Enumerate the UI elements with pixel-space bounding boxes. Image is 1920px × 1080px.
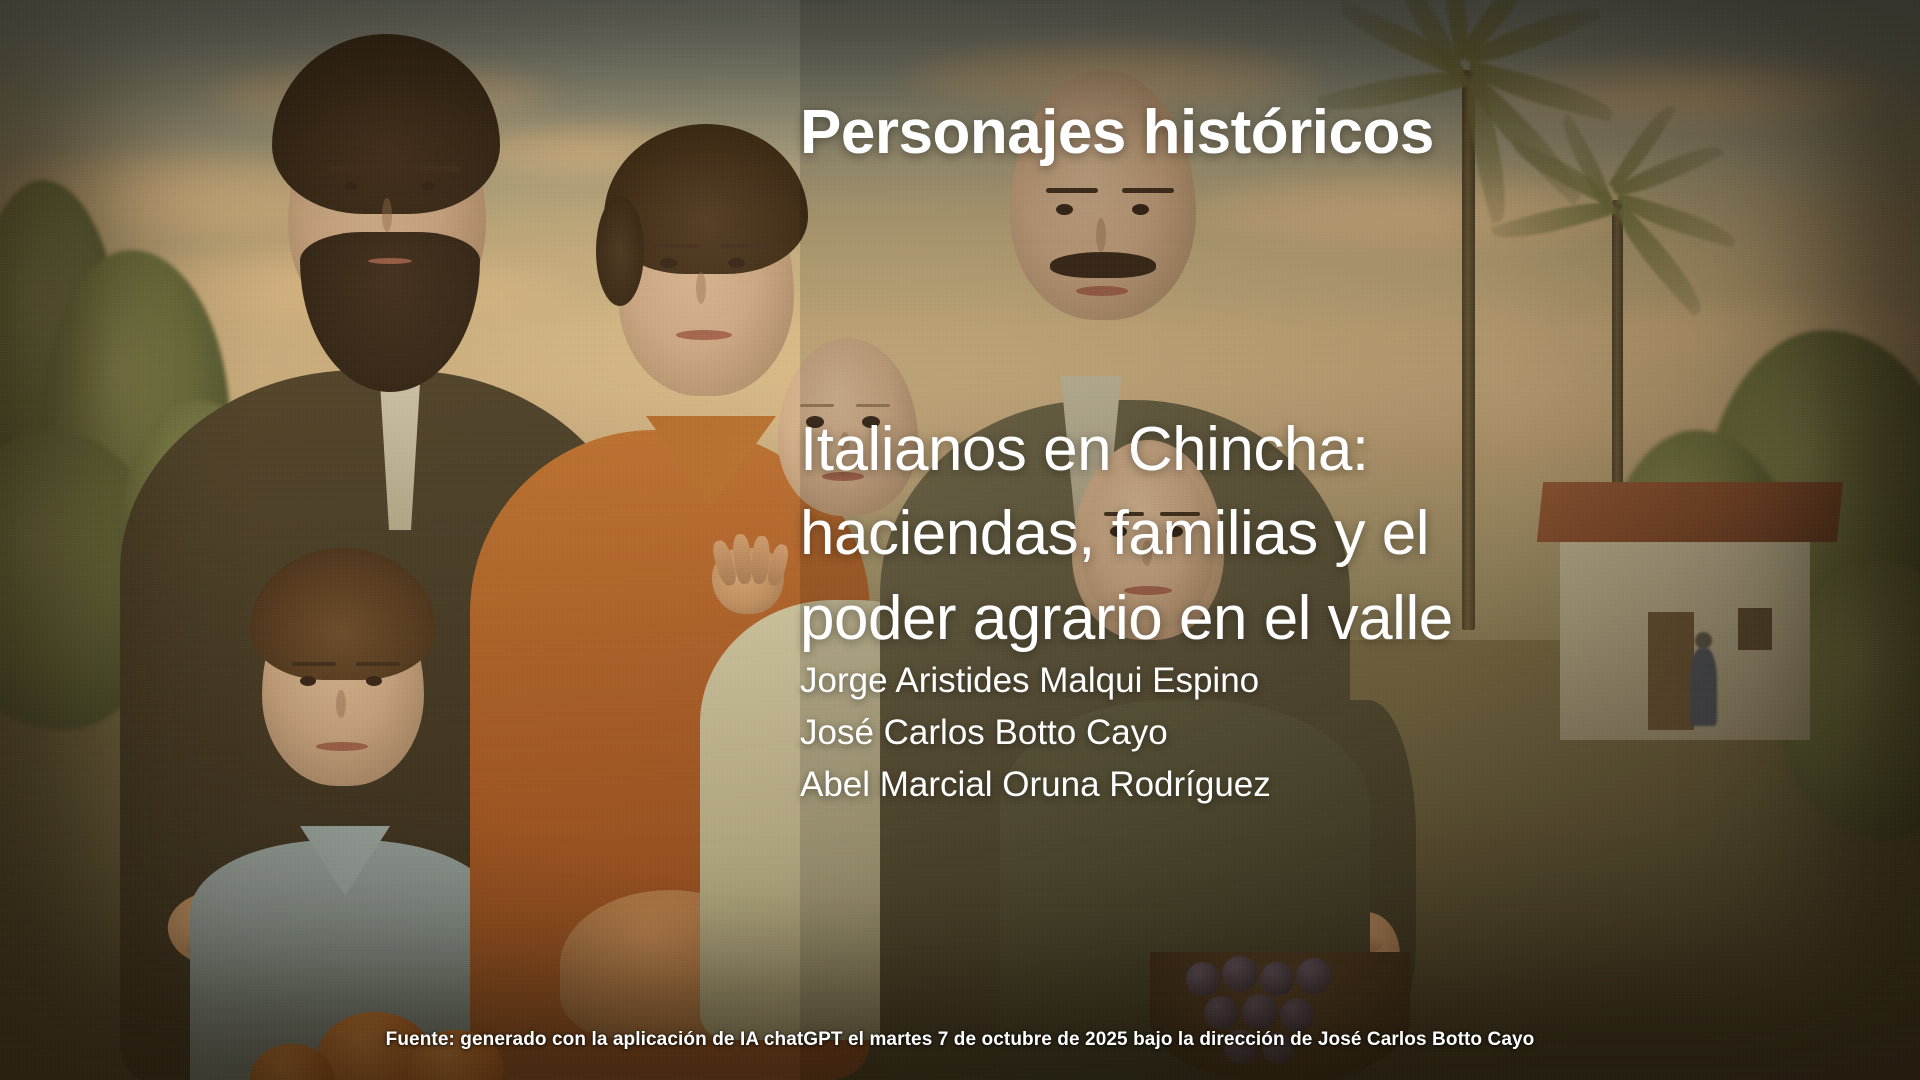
title-line-1: Italianos en Chincha:	[800, 408, 1500, 492]
slide-canvas: Personajes históricos Italianos en Chinc…	[0, 0, 1920, 1080]
author-list: Jorge Aristides Malqui Espino José Carlo…	[800, 655, 1560, 810]
author-3: Abel Marcial Oruna Rodríguez	[800, 759, 1560, 811]
text-layer: Personajes históricos Italianos en Chinc…	[0, 0, 1920, 1080]
author-2: José Carlos Botto Cayo	[800, 707, 1560, 759]
page-title: Italianos en Chincha: haciendas, familia…	[800, 408, 1500, 661]
title-line-3: poder agrario en el valle	[800, 577, 1500, 661]
title-line-2: haciendas, familias y el	[800, 492, 1500, 576]
kicker-heading: Personajes históricos	[800, 96, 1520, 169]
author-1: Jorge Aristides Malqui Espino	[800, 655, 1560, 707]
source-caption: Fuente: generado con la aplicación de IA…	[0, 1029, 1920, 1051]
